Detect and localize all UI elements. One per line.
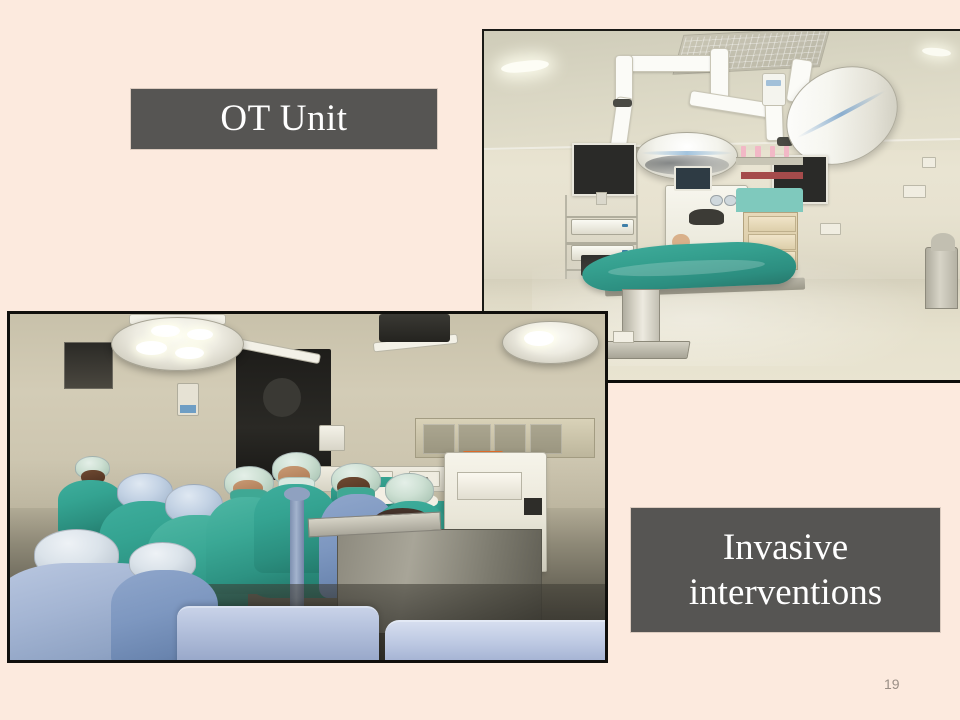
subtitle-line-2: interventions xyxy=(689,572,882,613)
photo-surgical-team-operating xyxy=(7,311,608,663)
surgical-light-mount xyxy=(762,73,785,106)
surgical-microscope xyxy=(379,314,450,342)
light-bulb xyxy=(136,341,167,354)
anesthesia-breathing-circuit xyxy=(689,209,725,226)
side-trolley xyxy=(925,247,958,308)
wall-dispenser xyxy=(177,383,200,416)
wall-poster xyxy=(64,342,114,389)
light-bulb xyxy=(151,325,180,337)
supply-vial xyxy=(784,146,789,157)
rack-shelf xyxy=(566,216,638,219)
rack-module-indicator xyxy=(622,224,627,228)
rack-module xyxy=(571,219,634,235)
wall-monitor xyxy=(572,143,636,196)
anesthesia-monitor-screen xyxy=(674,166,712,191)
operating-table-base xyxy=(599,341,690,359)
cabinet-linen xyxy=(736,188,803,212)
wall-socket xyxy=(820,223,841,235)
surgical-light-stripe xyxy=(641,151,733,155)
anesthesia-gauge xyxy=(724,195,737,206)
supply-vial xyxy=(770,146,775,157)
foreground-equipment-panel xyxy=(177,606,379,660)
wall-supply-rack xyxy=(736,157,803,165)
overhead-surgical-light xyxy=(111,317,244,371)
anesthesia-gauge xyxy=(710,195,723,206)
light-bulb xyxy=(524,331,554,346)
foreground-equipment-panel xyxy=(385,620,605,660)
door-porthole xyxy=(263,378,301,417)
surgical-light-joint xyxy=(613,99,631,107)
overhead-surgical-light-secondary xyxy=(502,321,599,365)
surgical-light-label xyxy=(766,80,781,87)
shelf-slot xyxy=(530,424,562,453)
surgical-light-stripe xyxy=(796,89,887,140)
cabinet-drawer xyxy=(748,216,796,233)
wall-socket xyxy=(903,185,926,198)
subtitle-label-box: Invasiveinterventions xyxy=(631,508,940,632)
page-title: OT Unit xyxy=(220,100,347,139)
subtitle-line-1: Invasive xyxy=(723,527,848,568)
machine-control-panel xyxy=(457,472,522,500)
wall-supply-rack-red xyxy=(741,172,803,179)
slide-canvas: OT Unit xyxy=(0,0,960,720)
title-label-box: OT Unit xyxy=(131,89,437,149)
side-trolley-handle xyxy=(931,233,955,250)
iv-pole-knob xyxy=(284,487,311,501)
supply-vial xyxy=(755,146,760,157)
wall-socket xyxy=(922,157,936,168)
shelf-slot xyxy=(494,424,526,453)
light-bulb xyxy=(187,329,213,340)
light-bulb xyxy=(175,347,204,359)
operating-table-pedal-label xyxy=(613,331,634,343)
slide-number: 19 xyxy=(884,676,914,692)
supply-bottle xyxy=(319,425,345,451)
surgical-light-arm-segment xyxy=(615,55,633,102)
dispenser-lid xyxy=(180,405,197,413)
machine-display xyxy=(524,498,542,514)
shelf-slot xyxy=(423,424,455,453)
supply-vial xyxy=(741,146,746,157)
shelf-slot xyxy=(458,424,490,453)
subtitle-text: Invasiveinterventions xyxy=(689,525,882,615)
surgery-scene xyxy=(10,314,605,660)
